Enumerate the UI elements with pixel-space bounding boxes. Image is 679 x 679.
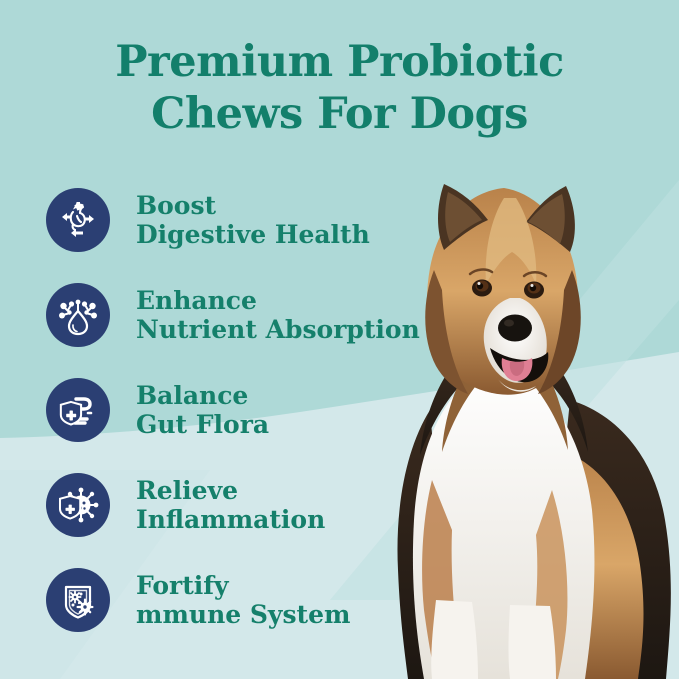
feature-line-1: Relieve (136, 476, 325, 505)
page-title: Premium Probiotic Chews For Dogs (0, 36, 679, 140)
feature-line-2: mmune System (136, 600, 350, 629)
badge-circle (46, 188, 110, 252)
feature-item-immune-system[interactable]: Fortify mmune System (46, 552, 446, 647)
feature-text: Enhance Nutrient Absorption (136, 286, 420, 344)
feature-item-nutrient-absorption[interactable]: Enhance Nutrient Absorption (46, 267, 446, 362)
feature-line-1: Balance (136, 381, 269, 410)
title-line-2: Chews For Dogs (40, 88, 639, 140)
feature-line-1: Boost (136, 191, 370, 220)
badge-circle (46, 473, 110, 537)
badge-circle (46, 378, 110, 442)
feature-line-2: Gut Flora (136, 410, 269, 439)
shield-germs-icon (57, 579, 99, 621)
product-poster: Premium Probiotic Chews For Dogs (0, 0, 679, 679)
feature-list: Boost Digestive Health (46, 172, 446, 647)
feature-line-1: Enhance (136, 286, 420, 315)
shield-intestine-icon (57, 389, 99, 431)
feature-text: Fortify mmune System (136, 571, 350, 629)
title-line-1: Premium Probiotic (40, 36, 639, 88)
badge-circle (46, 568, 110, 632)
feature-line-1: Fortify (136, 571, 350, 600)
feature-text: Boost Digestive Health (136, 191, 370, 249)
badge-circle (46, 283, 110, 347)
shield-virus-icon (57, 484, 99, 526)
feature-text: Relieve Inflammation (136, 476, 325, 534)
feature-item-gut-flora[interactable]: Balance Gut Flora (46, 362, 446, 457)
feature-item-digestive-health[interactable]: Boost Digestive Health (46, 172, 446, 267)
feature-line-2: Digestive Health (136, 220, 370, 249)
feature-text: Balance Gut Flora (136, 381, 269, 439)
feature-item-inflammation[interactable]: Relieve Inflammation (46, 457, 446, 552)
stomach-arrows-icon (57, 199, 99, 241)
feature-line-2: Nutrient Absorption (136, 315, 420, 344)
feature-line-2: Inflammation (136, 505, 325, 534)
droplet-molecule-icon (57, 294, 99, 336)
